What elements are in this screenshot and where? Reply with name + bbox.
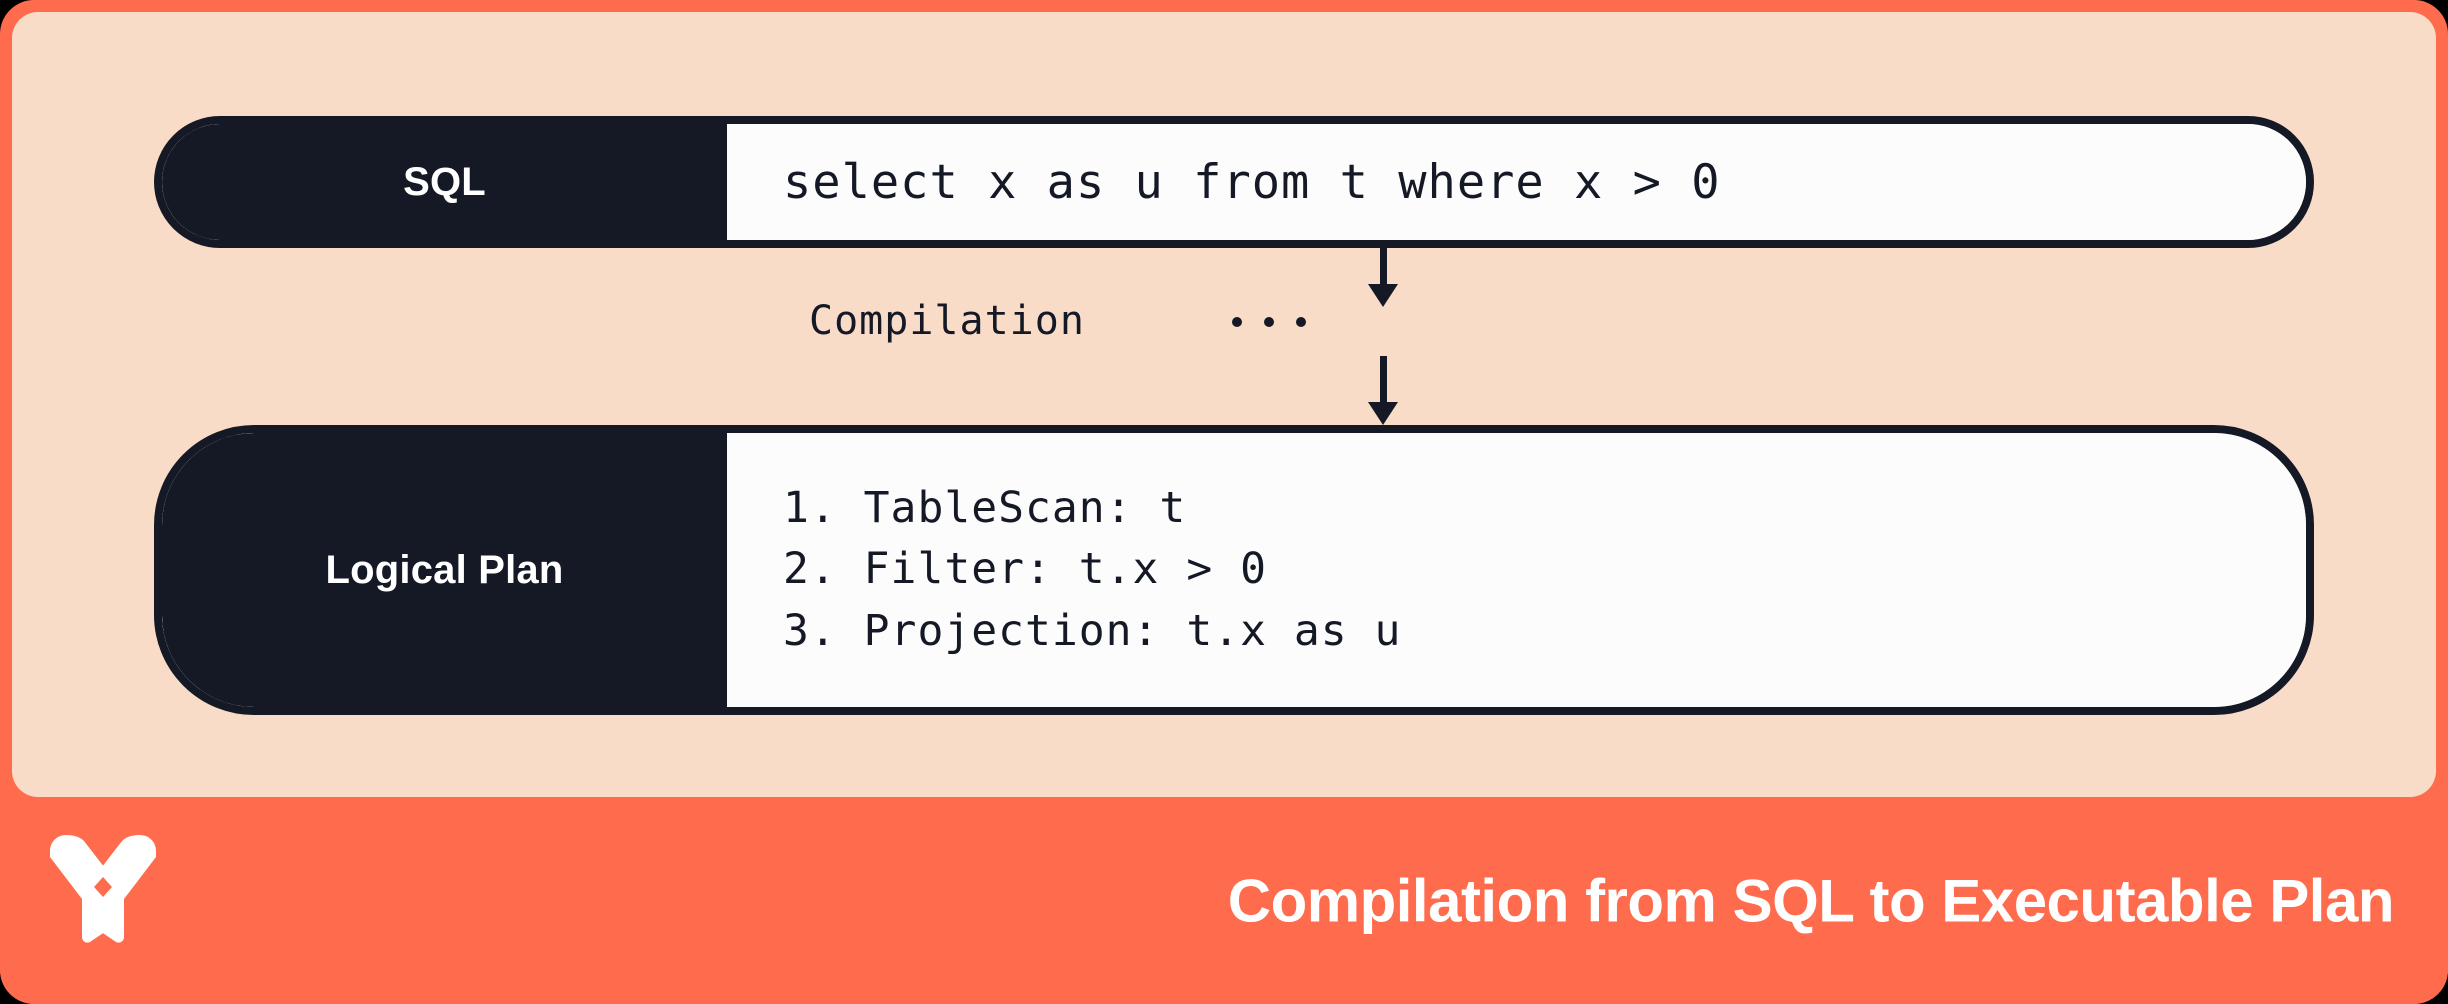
compilation-transition: Compilation [154,248,2314,425]
slide-card: SQL select x as u from t where x > 0 Com… [0,0,2448,1004]
databend-x-logo [48,827,158,945]
slide-footer: Compilation from SQL to Executable Plan [0,797,2448,1004]
sql-statement-line: select x as u from t where x > 0 [783,159,2306,206]
arrow-down-icon [1368,356,1398,425]
arrow-down-icon [1368,248,1398,308]
logical-plan-row-content: 1. TableScan: t 2. Filter: t.x > 0 3. Pr… [727,433,2306,707]
footer-title: Compilation from SQL to Executable Plan [1228,866,2394,935]
diagram-stage: SQL select x as u from t where x > 0 Com… [12,12,2436,797]
plan-step-3: 3. Projection: t.x as u [783,601,2306,662]
arrow-head [1368,402,1398,425]
plan-step-2: 2. Filter: t.x > 0 [783,539,2306,600]
arrow-head [1368,284,1398,307]
sql-row-label: SQL [162,124,727,240]
ellipsis-dot [1232,317,1242,327]
arrow-shaft [1380,356,1387,404]
ellipsis-dot [1264,317,1274,327]
arrow-shaft [1380,248,1387,286]
sql-row: SQL select x as u from t where x > 0 [154,116,2314,248]
logical-plan-row-label: Logical Plan [162,433,727,707]
compilation-label: Compilation [809,298,1085,344]
logical-plan-row: Logical Plan 1. TableScan: t 2. Filter: … [154,425,2314,715]
ellipsis-dot [1296,317,1306,327]
ellipsis-dots [1232,298,1306,346]
plan-step-1: 1. TableScan: t [783,478,2306,539]
sql-row-content: select x as u from t where x > 0 [727,124,2306,240]
